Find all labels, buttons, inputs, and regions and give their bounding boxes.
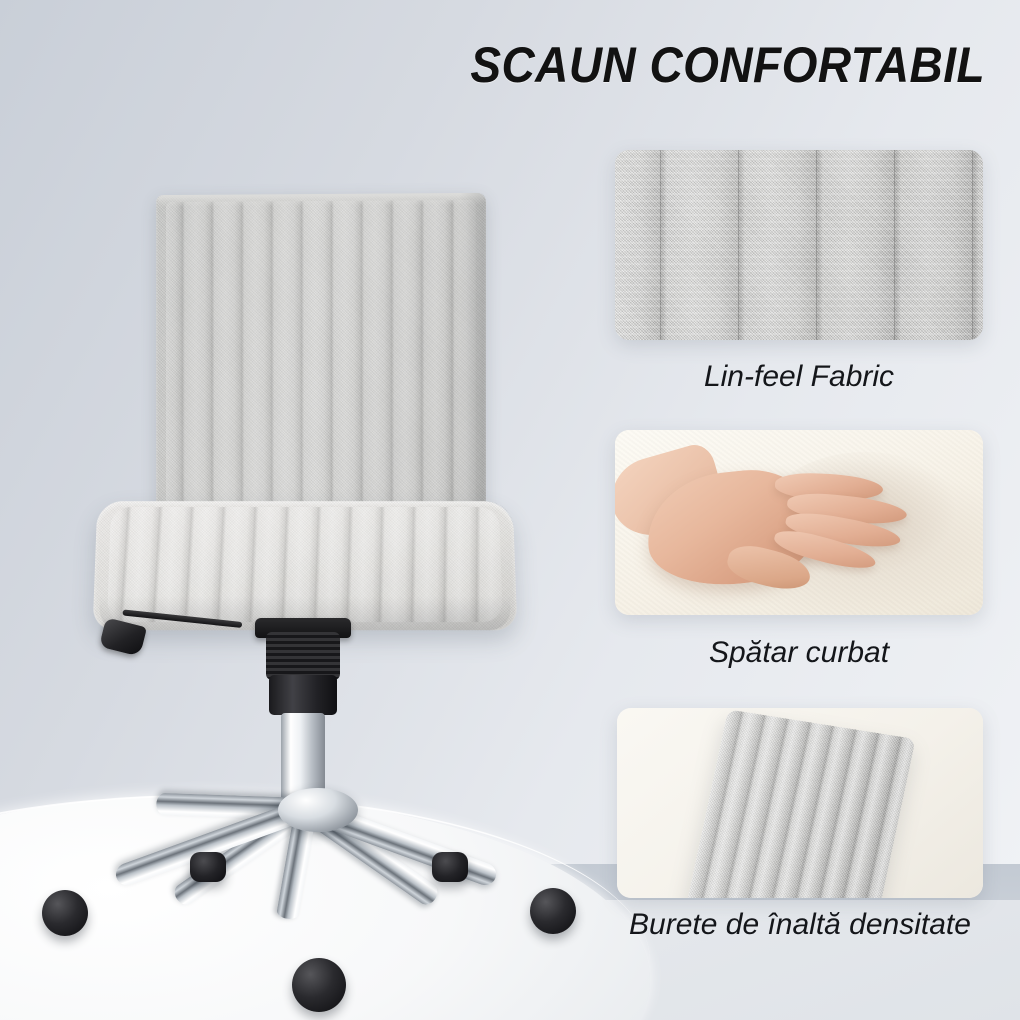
caster-rear-right (432, 852, 468, 882)
base-center-hub (278, 788, 358, 832)
backrest-channel-tufting (166, 200, 476, 539)
feature-caption-high-density-foam: Burete de înaltă densitate (580, 908, 1020, 942)
fabric-seam-stitching (615, 150, 983, 340)
backrest-side-shadow (460, 193, 486, 545)
caster-rear-left (190, 852, 226, 882)
chrome-five-star-base (40, 790, 600, 990)
height-adjustment-lever (102, 618, 242, 640)
memory-foam-image (615, 430, 983, 615)
gas-cylinder-collar (269, 675, 337, 715)
promo-banner: SCAUN CONFORTABIL (0, 0, 1020, 1020)
lever-knob (99, 617, 147, 656)
feature-card-curved-back (615, 430, 983, 615)
page-title: SCAUN CONFORTABIL (396, 36, 985, 94)
caster-front (292, 958, 346, 1012)
caster-right (530, 888, 576, 934)
feature-caption-fabric: Lin-feel Fabric (615, 360, 983, 394)
product-image-chair (40, 170, 600, 970)
chair-seat-cushion (93, 501, 518, 630)
chair-backrest (156, 193, 486, 545)
caster-left (42, 890, 88, 936)
linen-fabric-image (615, 150, 983, 340)
hand-illustration (625, 442, 945, 602)
feature-card-fabric (615, 150, 983, 340)
gas-cylinder-bellows (266, 632, 340, 680)
feature-card-high-density-foam (617, 708, 983, 898)
backrest-top-edge (158, 193, 484, 207)
feature-caption-curved-back: Spătar curbat (615, 636, 983, 670)
